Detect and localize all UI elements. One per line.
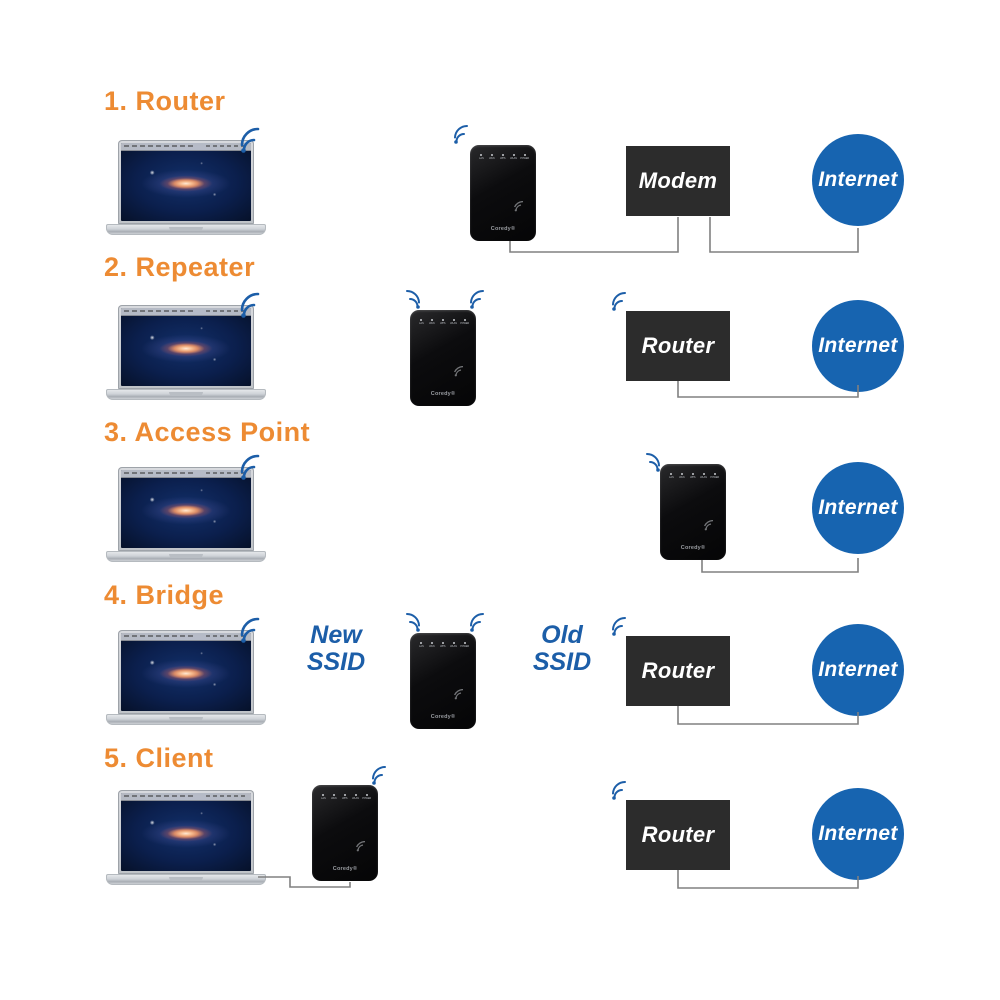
- led-power: POWER: [520, 154, 530, 160]
- led-power: POWER: [460, 319, 470, 325]
- laptop-lid: [118, 305, 254, 389]
- laptop-lid: [118, 467, 254, 551]
- wifi-waves-icon: [238, 126, 268, 153]
- router-box: Router: [626, 636, 730, 706]
- repeater-wifi-logo-icon: [454, 689, 467, 700]
- laptop-screen-wallpaper: [121, 470, 251, 548]
- led-wlan: WLAN: [449, 642, 459, 648]
- led-wlan: WLAN: [699, 473, 709, 479]
- router-box: Router: [626, 800, 730, 870]
- laptop-trackpad-notch: [169, 227, 203, 231]
- new-ssid-label: New SSID: [298, 622, 374, 676]
- wifi-waves-icon: [610, 616, 632, 636]
- repeater-wifi-logo-icon: [454, 366, 467, 377]
- cable-router-internet: [620, 375, 920, 425]
- cable-router-internet: [620, 864, 920, 914]
- laptop-screen-wallpaper: [121, 143, 251, 221]
- led-lan: LAN: [416, 642, 426, 648]
- network-modes-diagram: 1. Router LAN WAN WPS WLAN POWER: [0, 0, 1000, 1000]
- led-wlan: WLAN: [509, 154, 519, 160]
- laptop-screen-wallpaper: [121, 793, 251, 871]
- led-wps: WPS: [498, 154, 508, 160]
- wifi-waves-icon: [468, 612, 490, 632]
- cable-repeater-modem-internet: [460, 210, 920, 260]
- led-wlan: WLAN: [449, 319, 459, 325]
- wifi-waves-icon: [610, 780, 632, 800]
- led-lan: LAN: [416, 319, 426, 325]
- laptop-lid: [118, 630, 254, 714]
- router-box: Router: [626, 311, 730, 381]
- laptop-lid: [118, 140, 254, 224]
- internet-label: Internet: [818, 334, 897, 358]
- row-title-router: 1. Router: [104, 86, 226, 117]
- cable-router-internet: [620, 700, 920, 750]
- row-title-repeater: 2. Repeater: [104, 252, 255, 283]
- led-lan: LAN: [318, 794, 328, 800]
- wifi-waves-icon: [452, 124, 474, 144]
- internet-label: Internet: [818, 496, 897, 520]
- led-power: POWER: [710, 473, 720, 479]
- laptop-trackpad-notch: [169, 717, 203, 721]
- wifi-waves-icon: [238, 291, 268, 318]
- wifi-waves-icon: [400, 289, 422, 309]
- repeater-brand: Coredy®: [410, 391, 476, 397]
- repeater-wifi-logo-icon: [704, 520, 717, 531]
- laptop-base: [106, 714, 266, 725]
- led-wan: WAN: [329, 794, 339, 800]
- led-power: POWER: [460, 642, 470, 648]
- led-wlan: WLAN: [351, 794, 361, 800]
- repeater-body: LAN WAN WPS WLAN POWER Coredy®: [410, 633, 476, 729]
- laptop-menubar: [121, 143, 251, 151]
- repeater-brand: Coredy®: [410, 714, 476, 720]
- wifi-waves-icon: [468, 289, 490, 309]
- row-title-access-point: 3. Access Point: [104, 417, 310, 448]
- wifi-waves-icon: [640, 452, 662, 472]
- router-label: Router: [642, 822, 715, 848]
- laptop-base: [106, 389, 266, 400]
- wifi-waves-icon: [610, 291, 632, 311]
- led-wps: WPS: [688, 473, 698, 479]
- repeater-led-row: LAN WAN WPS WLAN POWER: [476, 154, 530, 160]
- wifi-waves-icon: [370, 765, 392, 785]
- modem-box: Modem: [626, 146, 730, 216]
- wifi-waves-icon: [238, 616, 268, 643]
- laptop-screen-wallpaper: [121, 633, 251, 711]
- laptop-base: [106, 551, 266, 562]
- laptop-menubar: [121, 470, 251, 478]
- internet-label: Internet: [818, 822, 897, 846]
- led-lan: LAN: [666, 473, 676, 479]
- modem-label: Modem: [639, 168, 718, 194]
- repeater-led-row: LAN WAN WPS WLAN POWER: [416, 642, 470, 648]
- row-title-bridge: 4. Bridge: [104, 580, 224, 611]
- internet-label: Internet: [818, 168, 897, 192]
- internet-label: Internet: [818, 658, 897, 682]
- laptop-menubar: [121, 308, 251, 316]
- led-power: POWER: [362, 794, 372, 800]
- led-wan: WAN: [427, 642, 437, 648]
- led-wps: WPS: [438, 319, 448, 325]
- led-wan: WAN: [677, 473, 687, 479]
- router-label: Router: [642, 333, 715, 359]
- cable-laptop-repeater: [250, 865, 390, 895]
- laptop-base: [106, 874, 266, 885]
- cable-repeater-internet: [650, 550, 920, 590]
- led-wps: WPS: [340, 794, 350, 800]
- wifi-waves-icon: [400, 612, 422, 632]
- laptop-trackpad-notch: [169, 392, 203, 396]
- row-title-client: 5. Client: [104, 743, 214, 774]
- laptop-lid: [118, 790, 254, 874]
- wifi-waves-icon: [238, 453, 268, 480]
- laptop-base: [106, 224, 266, 235]
- repeater-led-row: LAN WAN WPS WLAN POWER: [318, 794, 372, 800]
- repeater-led-row: LAN WAN WPS WLAN POWER: [666, 473, 720, 479]
- repeater-led-row: LAN WAN WPS WLAN POWER: [416, 319, 470, 325]
- laptop-trackpad-notch: [169, 877, 203, 881]
- laptop-screen-wallpaper: [121, 308, 251, 386]
- repeater-wifi-logo-icon: [356, 841, 369, 852]
- router-label: Router: [642, 658, 715, 684]
- laptop-menubar: [121, 793, 251, 801]
- led-wps: WPS: [438, 642, 448, 648]
- repeater-body: LAN WAN WPS WLAN POWER Coredy®: [410, 310, 476, 406]
- led-wan: WAN: [427, 319, 437, 325]
- laptop-trackpad-notch: [169, 554, 203, 558]
- repeater-body: LAN WAN WPS WLAN POWER Coredy®: [660, 464, 726, 560]
- led-lan: LAN: [476, 154, 486, 160]
- led-wan: WAN: [487, 154, 497, 160]
- laptop-menubar: [121, 633, 251, 641]
- internet-circle: Internet: [812, 462, 904, 554]
- old-ssid-label: Old SSID: [524, 622, 600, 676]
